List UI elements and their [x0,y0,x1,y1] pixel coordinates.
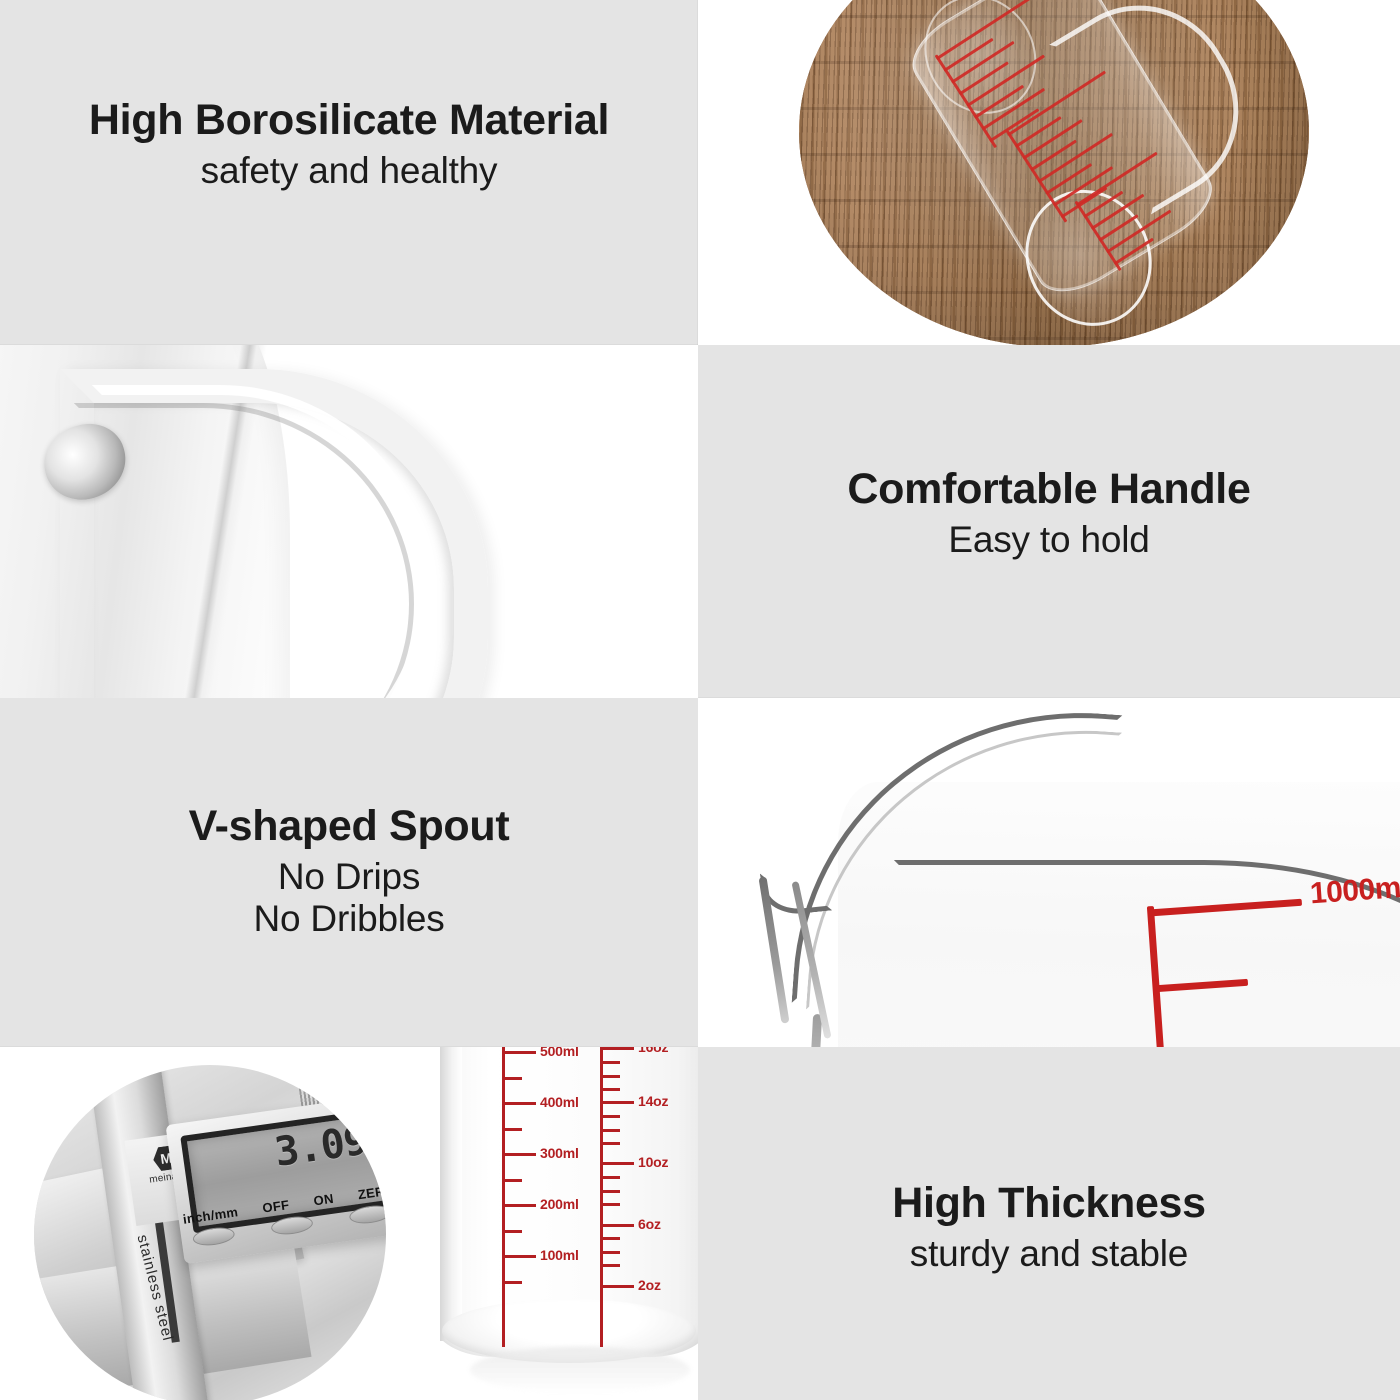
panel-high-borosilicate-material: High Borosilicate Material safety and he… [0,0,698,345]
ml-scale-label: 200ml [540,1196,579,1212]
material-subline: safety and healthy [0,150,698,191]
oz-scale-minor-tick [600,1264,620,1267]
oz-scale-minor-tick [600,1115,620,1118]
oval-photo-frame [794,0,1314,345]
panel-caliper-thickness-photo: ® meinaite stainless steel 3.09 mm inch/… [0,1047,440,1400]
oz-scale-minor-tick [600,1251,620,1254]
oz-scale-minor-tick [600,1129,620,1132]
panel-handle-closeup-photo [0,345,698,698]
ml-scale-minor-tick [502,1128,522,1131]
seam-vertical-top [697,0,698,345]
spout-headline: V-shaped Spout [0,802,698,850]
oz-scale-minor-tick [600,1088,620,1091]
oz-scale-minor-tick [600,1190,620,1193]
oz-scale-minor-tick [600,1176,620,1179]
oz-scale-major-tick [600,1285,634,1288]
oz-scale-label: 16oz [638,1047,668,1055]
ml-scale-minor-tick [502,1230,522,1233]
spout-subline-2: No Dribbles [0,898,698,939]
material-text-block: High Borosilicate Material safety and he… [0,96,698,192]
marking-1000ml: 1000ml [1152,904,1392,1047]
handle-closeup-image [0,345,698,698]
comfort-subline: Easy to hold [698,519,1400,560]
ml-scale-major-tick [502,1255,536,1258]
marking-1000ml-label: 1000ml [1309,871,1400,912]
product-feature-infographic: High Borosilicate Material safety and he… [0,0,1400,1400]
ml-scale-minor-tick [502,1179,522,1182]
seam-horizontal-3 [0,1046,698,1047]
oz-scale-label: 10oz [638,1154,668,1170]
v-shaped-spout [764,876,904,1047]
oz-scale-minor-tick [600,1075,620,1078]
caliper-reading-unit: mm [370,1140,386,1158]
caliper-on-label: ON [313,1191,335,1209]
ml-scale-major-tick [502,1102,536,1105]
oz-scale-major-tick [600,1224,634,1227]
seam-horizontal-1 [0,344,698,345]
marking-minor-tick [1156,979,1248,992]
oz-scale-minor-tick [600,1237,620,1240]
ml-scale-major-tick [502,1153,536,1156]
oz-scale-major-tick [600,1047,634,1050]
thickness-subline: sturdy and stable [698,1233,1400,1274]
panel-comfortable-handle: Comfortable Handle Easy to hold [698,345,1400,698]
oz-scale-major-tick [600,1162,634,1165]
material-headline: High Borosilicate Material [0,96,698,144]
oz-scale-label: 14oz [638,1093,668,1109]
ml-scale-label: 400ml [540,1094,579,1110]
glass-left-wall [440,1047,462,1341]
caliper-circular-image: ® meinaite stainless steel 3.09 mm inch/… [34,1065,386,1400]
ml-scale-label: 300ml [540,1145,579,1161]
panel-spout-closeup-photo: 1000ml [698,698,1400,1047]
oz-scale-major-tick [600,1101,634,1104]
oz-scale-spine [600,1047,603,1347]
seam-horizontal-2 [698,697,1400,698]
ml-scale-label: 100ml [540,1247,579,1263]
ml-scale-major-tick [502,1051,536,1054]
thickness-headline: High Thickness [698,1179,1400,1227]
caliper-reading-value: 3.09 [272,1121,369,1173]
comfort-headline: Comfortable Handle [698,465,1400,513]
panel-v-shaped-spout: V-shaped Spout No Drips No Dribbles [0,698,698,1047]
oz-scale-minor-tick [600,1203,620,1206]
panel-high-thickness: High Thickness sturdy and stable [698,1047,1400,1400]
glass-reflection [470,1347,690,1393]
spout-subline-1: No Drips [0,856,698,897]
panel-graduated-glass-photo: 500ml400ml300ml200ml100ml 16oz14oz10oz6o… [440,1047,698,1400]
ml-scale-spine [502,1047,505,1347]
cup-on-wood-image [799,0,1309,345]
oz-scale-minor-tick [600,1061,620,1064]
ml-scale-minor-tick [502,1281,522,1284]
spout-closeup-image: 1000ml [698,698,1400,1047]
ml-scale-minor-tick [502,1077,522,1080]
thickness-text-block: High Thickness sturdy and stable [698,1179,1400,1275]
ml-scale-major-tick [502,1204,536,1207]
oz-scale-minor-tick [600,1142,620,1145]
ml-scale-label: 500ml [540,1047,579,1059]
panel-cup-on-wood-photo [698,0,1400,345]
oz-scale-label: 2oz [638,1277,661,1293]
graduated-glass-image: 500ml400ml300ml200ml100ml 16oz14oz10oz6o… [440,1047,698,1400]
oz-scale-label: 6oz [638,1216,661,1232]
spout-text-block: V-shaped Spout No Drips No Dribbles [0,802,698,939]
comfort-text-block: Comfortable Handle Easy to hold [698,465,1400,561]
